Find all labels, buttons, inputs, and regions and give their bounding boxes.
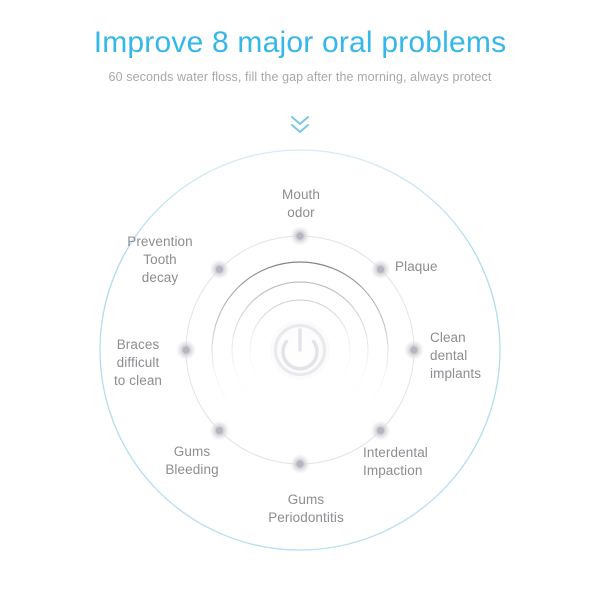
- power-button-icon: [270, 320, 330, 380]
- node-label-interdental-impaction: Interdental Impaction: [363, 444, 473, 480]
- node-dot-mouth-odor: [289, 225, 311, 247]
- node-dot-plaque: [370, 258, 392, 280]
- node-label-gums-periodontitis: Gums Periodontitis: [238, 491, 374, 527]
- node-label-plaque: Plaque: [395, 258, 485, 276]
- node-label-braces-difficult-to-clean: Braces difficult to clean: [96, 336, 180, 391]
- page-root: Improve 8 major oral problems 60 seconds…: [0, 0, 600, 600]
- node-dot-gums-periodontitis: [289, 453, 311, 475]
- node-label-prevention-tooth-decay: Prevention Tooth decay: [112, 233, 208, 288]
- node-dot-clean-dental-implants: [403, 339, 425, 361]
- node-label-gums-bleeding: Gums Bleeding: [140, 443, 244, 479]
- node-dot-gums-bleeding: [208, 420, 230, 442]
- node-dot-prevention-tooth-decay: [208, 258, 230, 280]
- node-label-clean-dental-implants: Clean dental implants: [430, 329, 522, 384]
- node-dot-interdental-impaction: [370, 420, 392, 442]
- node-label-mouth-odor: Mouth odor: [255, 186, 347, 222]
